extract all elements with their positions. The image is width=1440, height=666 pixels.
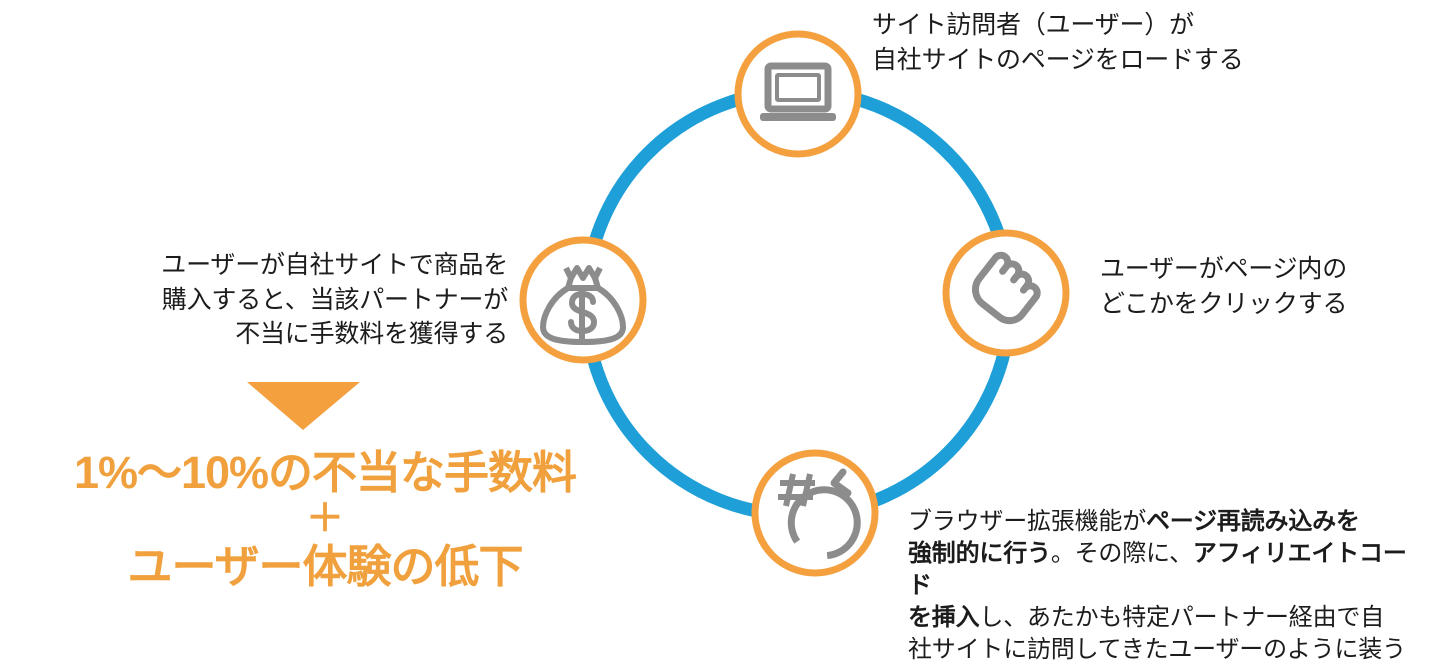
diagram-canvas: サイト訪問者（ユーザー）が 自社サイトのページをロードする ユーザーがページ内の… — [0, 0, 1440, 656]
laptop-base-icon — [760, 113, 836, 121]
caption-reload-seg5: し、あたかも特定パートナー経由で自 社サイトに訪問してきたユーザーのように装う — [908, 604, 1406, 663]
node-commission[interactable] — [523, 240, 643, 360]
conclusion-line-3: ユーザー体験の低下 — [0, 542, 650, 592]
caption-click-page: ユーザーがページ内の どこかをクリックする — [1100, 252, 1347, 321]
node-click[interactable] — [946, 233, 1066, 353]
down-triangle-icon — [247, 382, 360, 430]
node-click-circle[interactable] — [946, 233, 1066, 353]
caption-unfair-commission: ユーザーが自社サイトで商品を 購入すると、当該パートナーが 不当に手数料を獲得す… — [130, 248, 508, 352]
conclusion-plus-sign: ＋ — [0, 498, 650, 542]
caption-load-page: サイト訪問者（ユーザー）が 自社サイトのページをロードする — [872, 8, 1244, 77]
caption-reload-seg3: 。その際に、 — [1051, 540, 1193, 567]
conclusion-block: 1%～10%の不当な手数料 ＋ ユーザー体験の低下 — [0, 448, 650, 592]
node-load-circle[interactable] — [738, 34, 858, 154]
conclusion-line-1: 1%～10%の不当な手数料 — [0, 448, 650, 498]
caption-reload-seg1: ブラウザー拡張機能が — [908, 508, 1146, 535]
node-reload[interactable] — [755, 453, 875, 573]
caption-forced-reload: ブラウザー拡張機能がページ再読み込みを 強制的に行う。その際に、アフィリエイトコ… — [908, 506, 1420, 666]
node-load[interactable] — [738, 34, 858, 154]
